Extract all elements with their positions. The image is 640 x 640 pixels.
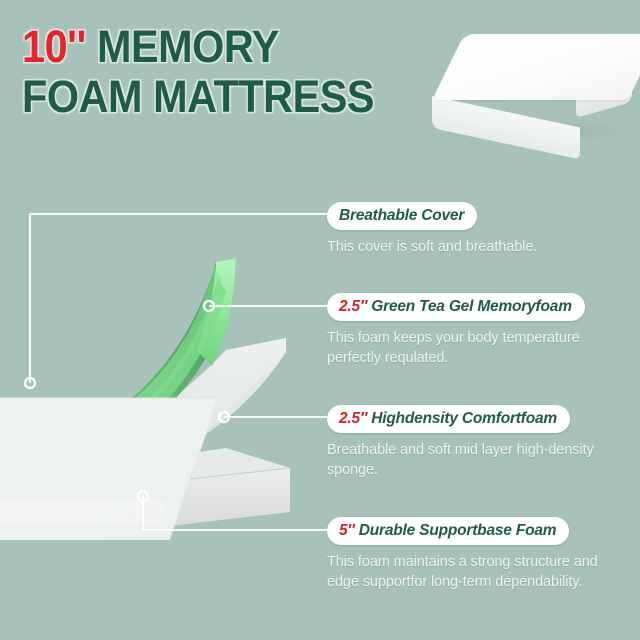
title-line-2: FOAM MATTRESS: [22, 72, 408, 122]
title-line-1-rest: MEMORY: [86, 21, 279, 72]
callout-2-measure: 2.5″: [339, 298, 367, 315]
callout-highdensity-comfortfoam: 2.5″ Highdensity Comfortfoam Breathable …: [327, 405, 627, 480]
callout-1-pill[interactable]: Breathable Cover: [327, 202, 477, 230]
infographic-canvas: 10'' MEMORY FOAM MATTRESS: [0, 0, 640, 640]
title-line-1: 10'' MEMORY: [22, 22, 408, 72]
callout-3-measure: 2.5″: [339, 410, 367, 427]
product-photo-front-face: [432, 96, 580, 159]
callout-breathable-cover: Breathable Cover This cover is soft and …: [327, 202, 627, 257]
product-photo: [424, 26, 638, 158]
product-photo-top-face: [432, 34, 640, 100]
callout-2-label: Green Tea Gel Memoryfoam: [371, 298, 572, 315]
callout-durable-supportbase-foam: 5″ Durable Supportbase Foam This foam ma…: [327, 517, 627, 592]
mattress-cutaway-illustration: [0, 200, 320, 540]
page-title: 10'' MEMORY FOAM MATTRESS: [22, 22, 442, 122]
callout-3-label: Highdensity Comfortfoam: [371, 410, 557, 427]
callout-4-measure: 5″: [339, 522, 355, 539]
title-size-label: 10'': [22, 21, 86, 72]
callout-2-description: This foam keeps your body temperature pe…: [327, 328, 617, 368]
callout-4-description: This foam maintains a strong structure a…: [327, 552, 617, 592]
callout-green-tea-gel-memoryfoam: 2.5″ Green Tea Gel Memoryfoam This foam …: [327, 293, 627, 368]
callout-1-description: This cover is soft and breathable.: [327, 237, 617, 257]
callout-3-description: Breathable and soft mid layer high-densi…: [327, 440, 617, 480]
callout-4-pill[interactable]: 5″ Durable Supportbase Foam: [327, 517, 569, 545]
callout-2-pill[interactable]: 2.5″ Green Tea Gel Memoryfoam: [327, 293, 585, 321]
callout-1-label: Breathable Cover: [339, 207, 464, 224]
callout-4-label: Durable Supportbase Foam: [359, 522, 557, 539]
callout-3-pill[interactable]: 2.5″ Highdensity Comfortfoam: [327, 405, 570, 433]
